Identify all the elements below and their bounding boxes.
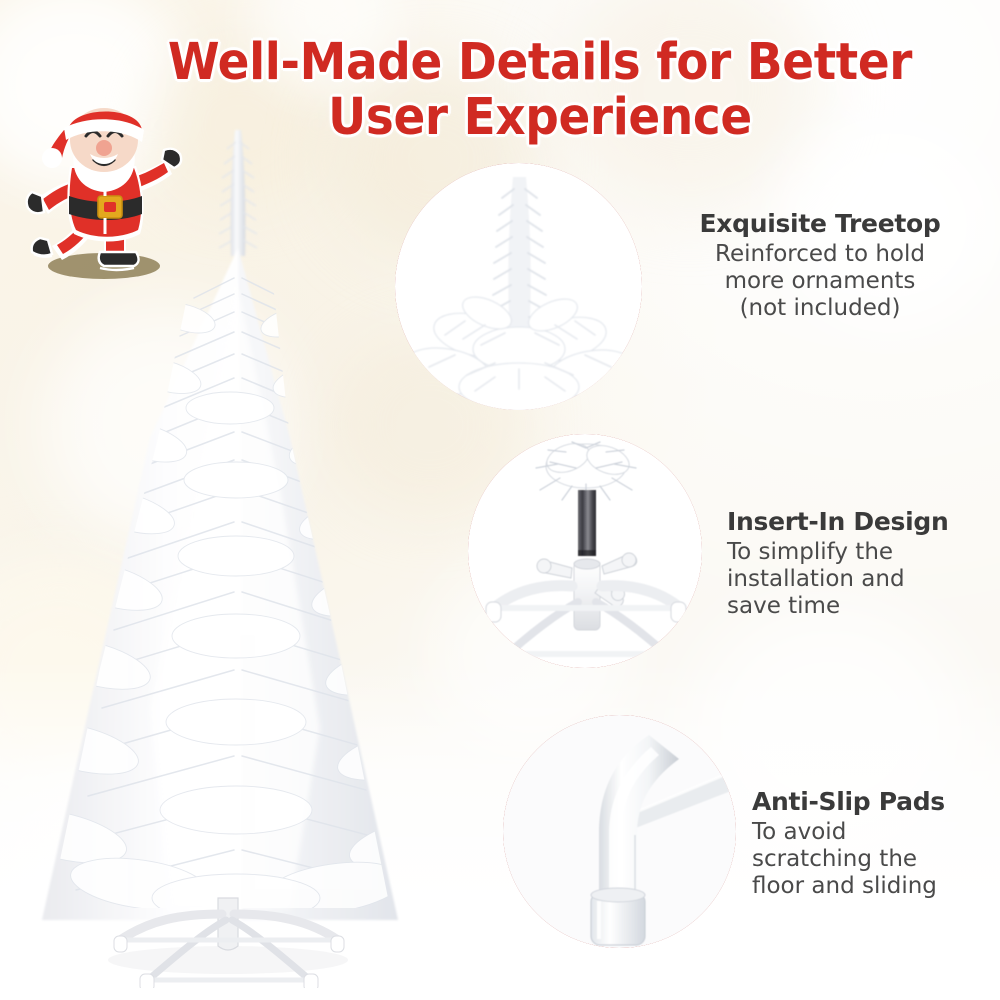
callout-insert-in-body: To simplify the installation and save ti…	[727, 539, 997, 620]
callout-treetop-body: Reinforced to hold more ornaments (not i…	[660, 241, 980, 322]
callout-treetop-title: Exquisite Treetop	[660, 210, 980, 238]
product-infographic: Exquisite Treetop Reinforced to hold mor…	[0, 0, 1000, 1000]
callout-anti-slip-photo	[503, 715, 736, 948]
callout-anti-slip-title: Anti-Slip Pads	[752, 788, 1000, 816]
callout-insert-in-photo	[468, 434, 702, 668]
page-title: Well-Made Details for Better User Experi…	[154, 36, 927, 145]
callout-insert-in-title: Insert-In Design	[727, 508, 997, 536]
callout-insert-in-text: Insert-In Design To simplify the install…	[727, 508, 997, 620]
callout-treetop-photo	[395, 163, 642, 410]
callout-treetop-text: Exquisite Treetop Reinforced to hold mor…	[660, 210, 980, 322]
callout-anti-slip-body: To avoid scratching the floor and slidin…	[752, 819, 1000, 900]
callout-anti-slip-text: Anti-Slip Pads To avoid scratching the f…	[752, 788, 1000, 900]
